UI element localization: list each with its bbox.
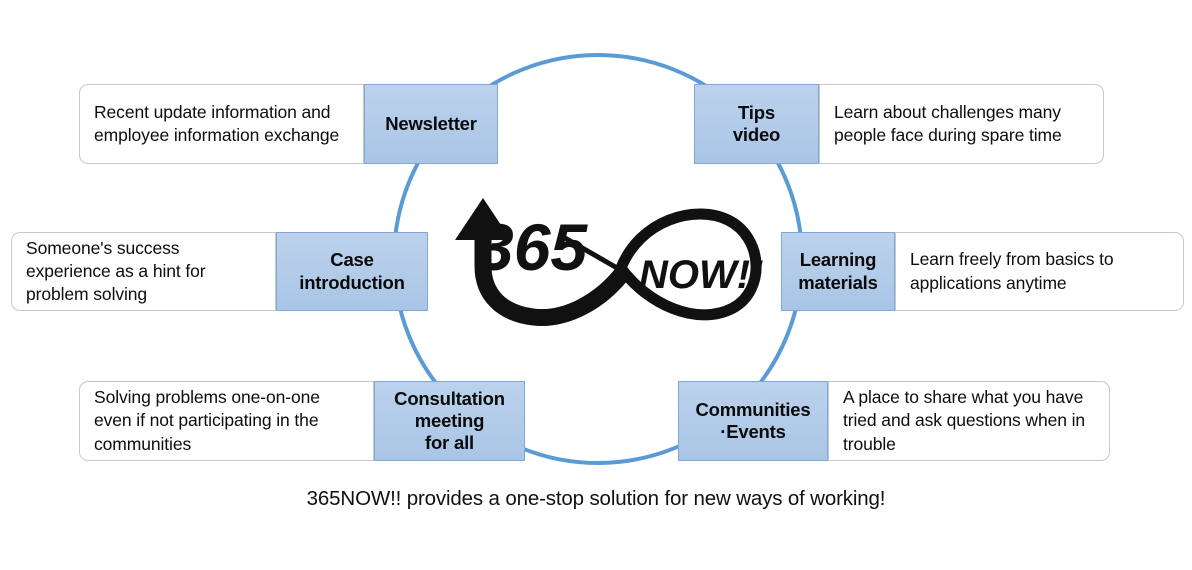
item-case-introduction-label[interactable]: Case introduction (276, 232, 428, 311)
item-newsletter[interactable]: Recent update information and employee i… (79, 84, 498, 164)
item-consultation-meeting-label-line1: Consultation (394, 388, 505, 409)
item-consultation-meeting-label-line2: meeting (415, 410, 485, 431)
item-tips-video-label[interactable]: Tips video (694, 84, 819, 164)
item-consultation-meeting-label-line3: for all (425, 432, 474, 453)
item-communities-events-label[interactable]: Communities ·Events (678, 381, 828, 461)
item-learning-materials-label[interactable]: Learning materials (781, 232, 895, 311)
item-tips-video[interactable]: Tips video Learn about challenges many p… (694, 84, 1104, 164)
diagram-canvas: 365 NOW!! Recent update information and … (0, 0, 1192, 570)
item-case-introduction-label-line1: Case (330, 249, 373, 270)
item-newsletter-description: Recent update information and employee i… (79, 84, 364, 164)
item-tips-video-label-line2: video (733, 124, 780, 145)
item-case-introduction-description: Someone's success experience as a hint f… (11, 232, 276, 311)
item-learning-materials-label-line2: materials (798, 272, 877, 293)
item-communities-events-label-line1: Communities (696, 399, 811, 420)
item-case-introduction[interactable]: Someone's success experience as a hint f… (11, 232, 428, 311)
item-communities-events-description: A place to share what you have tried and… (828, 381, 1110, 461)
item-newsletter-label[interactable]: Newsletter (364, 84, 498, 164)
item-learning-materials-label-line1: Learning (800, 249, 877, 270)
diagram-caption: 365NOW!! provides a one-stop solution fo… (0, 487, 1192, 511)
logo-now-text: NOW!! (639, 253, 763, 297)
item-consultation-meeting[interactable]: Solving problems one-on-one even if not … (79, 381, 525, 461)
item-case-introduction-label-line2: introduction (299, 272, 405, 293)
item-learning-materials[interactable]: Learning materials Learn freely from bas… (781, 232, 1184, 311)
item-communities-events[interactable]: Communities ·Events A place to share wha… (678, 381, 1110, 461)
logo-365-text: 365 (477, 210, 588, 284)
item-tips-video-description: Learn about challenges many people face … (819, 84, 1104, 164)
item-learning-materials-description: Learn freely from basics to applications… (895, 232, 1184, 311)
item-consultation-meeting-label[interactable]: Consultation meeting for all (374, 381, 525, 461)
365now-logo: 365 NOW!! (425, 190, 775, 330)
item-consultation-meeting-description: Solving problems one-on-one even if not … (79, 381, 374, 461)
item-communities-events-label-line2: ·Events (720, 421, 785, 442)
item-tips-video-label-line1: Tips (738, 102, 775, 123)
